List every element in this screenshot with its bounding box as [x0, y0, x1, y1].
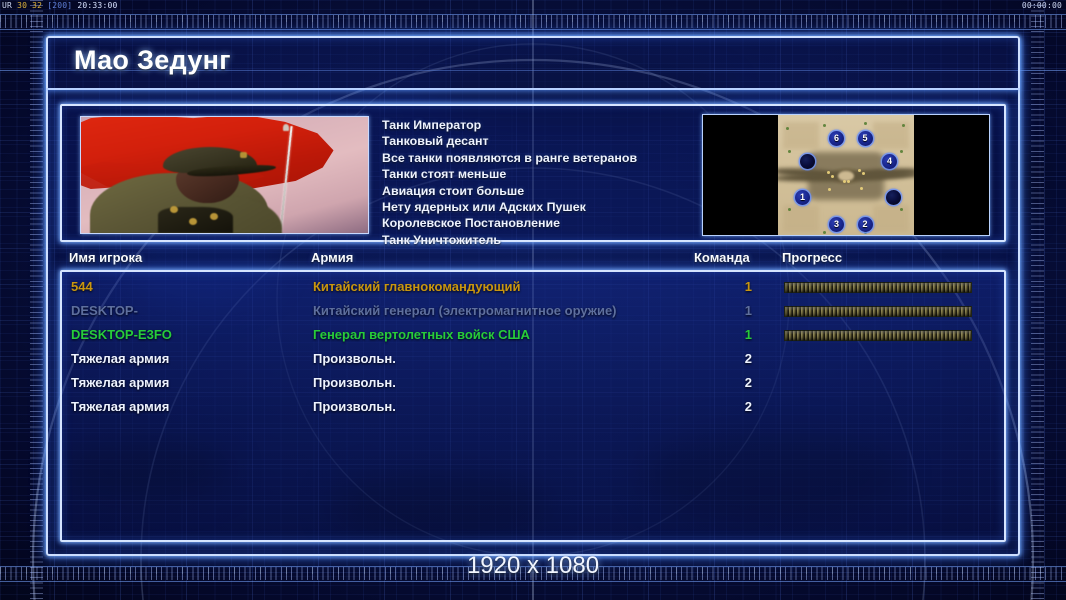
progress-bar — [784, 330, 972, 341]
title-band: Мао Зедунг — [46, 36, 1020, 90]
cell-army: Произвольн. — [313, 399, 396, 414]
minimap-tree — [788, 150, 791, 153]
minimap-resource — [843, 180, 846, 183]
description-line: Танк Уничтожитель — [382, 232, 702, 248]
ruler-horizontal-top — [0, 15, 1066, 28]
table-row[interactable]: Тяжелая армияПроизвольн.2 — [62, 348, 1004, 372]
portrait-button-2 — [189, 218, 197, 225]
minimap-start-position: 5 — [858, 131, 873, 146]
status-left: UR 30 32 [200] 20:33:00 — [2, 0, 118, 11]
minimap-tree — [900, 150, 903, 153]
column-header-team: Команда — [694, 250, 750, 265]
cell-army: Генерал вертолетных войск США — [313, 327, 530, 342]
description-line: Нету ядерных или Адских Пушек — [382, 199, 702, 215]
cell-army: Произвольн. — [313, 375, 396, 390]
cell-army: Китайский главнокомандующий — [313, 279, 521, 294]
main-panel: Мао Зедунг — [46, 36, 1020, 556]
minimap-resource — [831, 175, 834, 178]
status-ur: UR — [2, 1, 12, 10]
minimap-resource — [858, 169, 861, 172]
page-title: Мао Зедунг — [74, 45, 231, 76]
resolution-caption: 1920 x 1080 — [0, 552, 1066, 580]
description-line: Все танки появляются в ранге ветеранов — [382, 150, 702, 166]
status-right-clock: 00:00:00 — [1022, 0, 1062, 11]
status-num-2: 32 — [32, 1, 42, 10]
status-num-1: 30 — [17, 1, 27, 10]
cell-army: Китайский генерал (электромагнитное оруж… — [313, 303, 617, 318]
column-header-army: Армия — [311, 250, 353, 265]
cell-player-name: Тяжелая армия — [71, 375, 169, 390]
description-line: Королевское Постановление — [382, 215, 702, 231]
cell-team: 1 — [722, 279, 752, 294]
general-info-panel: Танк Император Танковый десант Все танки… — [60, 104, 1006, 242]
minimap-preview: 654132 — [702, 114, 990, 236]
bg-hline-2 — [0, 581, 1066, 582]
column-header-progress: Прогресс — [782, 250, 842, 265]
cell-team: 1 — [722, 303, 752, 318]
minimap-tree — [823, 231, 826, 234]
minimap-start-position: 2 — [858, 217, 873, 232]
minimap-resource — [860, 187, 863, 190]
cell-team: 2 — [722, 375, 752, 390]
ruler-vertical-left — [30, 0, 43, 600]
status-bracket: [200] — [47, 1, 72, 10]
cell-team: 2 — [722, 399, 752, 414]
cell-player-name: 544 — [71, 279, 93, 294]
minimap-tree — [902, 124, 905, 127]
player-table: 544Китайский главнокомандующий1DESKTOP-К… — [60, 270, 1006, 542]
table-row[interactable]: DESKTOP-E3FOГенерал вертолетных войск СШ… — [62, 324, 1004, 348]
ruler-line-top-bottom — [0, 29, 1066, 30]
portrait-flagpole-finial — [283, 124, 289, 131]
cell-player-name: Тяжелая армия — [71, 399, 169, 414]
status-bar-bottom — [0, 589, 1066, 600]
description-line: Авиация стоит больше — [382, 183, 702, 199]
minimap-start-position: 4 — [882, 154, 897, 169]
portrait-cap-badge — [240, 152, 247, 158]
minimap-start-position: 1 — [795, 190, 810, 205]
status-bar-top: UR 30 32 [200] 20:33:00 00:00:00 — [0, 0, 1066, 11]
status-time: 20:33:00 — [77, 1, 117, 10]
ruler-vertical-right — [1031, 0, 1044, 600]
table-row[interactable]: 544Китайский главнокомандующий1 — [62, 276, 1004, 300]
progress-bar — [784, 282, 972, 293]
general-description: Танк Император Танковый десант Все танки… — [382, 117, 702, 248]
progress-bar — [784, 306, 972, 317]
description-line: Танк Император — [382, 117, 702, 133]
table-row[interactable]: DESKTOP-Китайский генерал (электромагнит… — [62, 300, 1004, 324]
table-row[interactable]: Тяжелая армияПроизвольн.2 — [62, 372, 1004, 396]
cell-team: 2 — [722, 351, 752, 366]
table-row[interactable]: Тяжелая армияПроизвольн.2 — [62, 396, 1004, 420]
minimap-start-position: 3 — [829, 217, 844, 232]
minimap-tree — [864, 122, 867, 125]
minimap-patch — [873, 205, 908, 232]
loading-screen: UR 30 32 [200] 20:33:00 00:00:00 Мао Зед… — [0, 0, 1066, 600]
minimap-tree — [823, 124, 826, 127]
cell-player-name: Тяжелая армия — [71, 351, 169, 366]
general-portrait — [80, 116, 369, 234]
cell-army: Произвольн. — [313, 351, 396, 366]
minimap-tree — [788, 208, 791, 211]
minimap-terrain: 654132 — [778, 115, 914, 236]
description-line: Танки стоят меньше — [382, 166, 702, 182]
player-table-header: Имя игрока Армия Команда Прогресс — [60, 250, 1006, 270]
minimap-start-position: 6 — [829, 131, 844, 146]
minimap-patch — [783, 122, 818, 149]
minimap-start-position — [886, 190, 901, 205]
column-header-player: Имя игрока — [69, 250, 142, 265]
cell-player-name: DESKTOP-E3FO — [71, 327, 172, 342]
description-line: Танковый десант — [382, 133, 702, 149]
cell-player-name: DESKTOP- — [71, 303, 138, 318]
cell-team: 1 — [722, 327, 752, 342]
